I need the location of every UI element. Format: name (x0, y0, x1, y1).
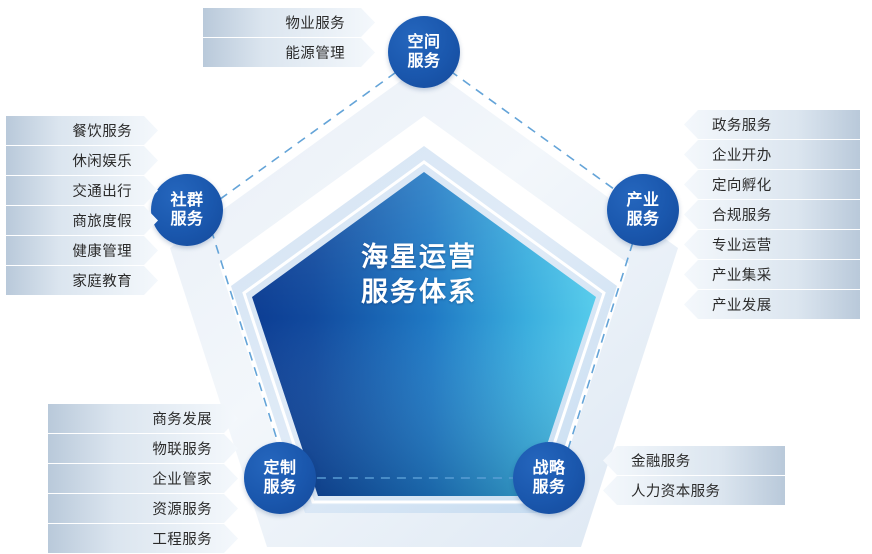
list-item[interactable]: 餐饮服务 (6, 116, 158, 145)
node-space[interactable]: 空间 服务 (388, 16, 460, 88)
list-item[interactable]: 交通出行 (6, 176, 158, 205)
list-item[interactable]: 物业服务 (203, 8, 375, 37)
ribbon-shape (684, 170, 860, 199)
node-community-line1: 社群 (170, 191, 203, 210)
list-bottom-left: 商务发展 物联服务 企业管家 资源服务 工程服务 (48, 404, 238, 554)
list-item-label: 能源管理 (285, 42, 345, 63)
list-item[interactable]: 家庭教育 (6, 266, 158, 295)
list-item-label: 产业集采 (712, 264, 772, 285)
ribbon-shape (684, 110, 860, 139)
node-industry-line1: 产业 (626, 191, 659, 210)
node-space-line2: 服务 (407, 52, 440, 71)
diagram-canvas: 海星运营 服务体系 空间 服务 产业 服务 战略 服务 定制 服务 社群 服务 … (0, 0, 872, 552)
list-item-label: 产业发展 (712, 294, 772, 315)
list-top: 物业服务 能源管理 (203, 8, 375, 68)
list-item-label: 工程服务 (152, 528, 212, 549)
list-item-label: 专业运营 (712, 234, 772, 255)
list-item[interactable]: 定向孵化 (684, 170, 860, 199)
list-item-label: 政务服务 (712, 114, 772, 135)
list-item[interactable]: 休闲娱乐 (6, 146, 158, 175)
list-item[interactable]: 金融服务 (603, 446, 785, 475)
ribbon-shape (684, 200, 860, 229)
list-item[interactable]: 能源管理 (203, 38, 375, 67)
list-item-label: 商务发展 (152, 408, 212, 429)
ribbon-shape (684, 260, 860, 289)
node-community[interactable]: 社群 服务 (151, 174, 223, 246)
list-item[interactable]: 专业运营 (684, 230, 860, 259)
list-right: 政务服务 企业开办 定向孵化 合规服务 专业运营 (684, 110, 860, 320)
list-item[interactable]: 产业集采 (684, 260, 860, 289)
node-industry-line2: 服务 (626, 210, 659, 229)
list-left: 餐饮服务 休闲娱乐 交通出行 商旅度假 健康管理 (6, 116, 158, 296)
list-item-label: 资源服务 (152, 498, 212, 519)
list-item-label: 企业开办 (712, 144, 772, 165)
node-custom-line2: 服务 (263, 478, 296, 497)
ribbon-shape (684, 230, 860, 259)
list-item[interactable]: 健康管理 (6, 236, 158, 265)
list-item-label: 物联服务 (152, 438, 212, 459)
node-community-line2: 服务 (170, 210, 203, 229)
list-item[interactable]: 资源服务 (48, 494, 238, 523)
list-item-label: 交通出行 (72, 180, 132, 201)
list-item[interactable]: 商旅度假 (6, 206, 158, 235)
list-item-label: 健康管理 (72, 240, 132, 261)
list-item[interactable]: 产业发展 (684, 290, 860, 319)
node-custom-line1: 定制 (263, 459, 296, 478)
node-strategy-line2: 服务 (532, 478, 565, 497)
list-item[interactable]: 企业管家 (48, 464, 238, 493)
list-item-label: 物业服务 (285, 12, 345, 33)
list-item-label: 商旅度假 (72, 210, 132, 231)
list-item[interactable]: 政务服务 (684, 110, 860, 139)
list-item[interactable]: 物联服务 (48, 434, 238, 463)
list-item-label: 金融服务 (631, 450, 691, 471)
list-item-label: 餐饮服务 (72, 120, 132, 141)
list-item[interactable]: 人力资本服务 (603, 476, 785, 505)
list-item[interactable]: 工程服务 (48, 524, 238, 553)
ribbon-shape (684, 290, 860, 319)
list-item-label: 休闲娱乐 (72, 150, 132, 171)
node-custom[interactable]: 定制 服务 (244, 442, 316, 514)
node-industry[interactable]: 产业 服务 (607, 174, 679, 246)
node-strategy[interactable]: 战略 服务 (513, 442, 585, 514)
node-space-line1: 空间 (407, 33, 440, 52)
list-item[interactable]: 合规服务 (684, 200, 860, 229)
list-bottom-right: 金融服务 人力资本服务 (603, 446, 785, 506)
list-item-label: 定向孵化 (712, 174, 772, 195)
node-strategy-line1: 战略 (532, 459, 565, 478)
list-item[interactable]: 企业开办 (684, 140, 860, 169)
list-item-label: 合规服务 (712, 204, 772, 225)
ribbon-shape (684, 140, 860, 169)
list-item[interactable]: 商务发展 (48, 404, 238, 433)
list-item-label: 企业管家 (152, 468, 212, 489)
list-item-label: 人力资本服务 (631, 480, 720, 501)
list-item-label: 家庭教育 (72, 270, 132, 291)
